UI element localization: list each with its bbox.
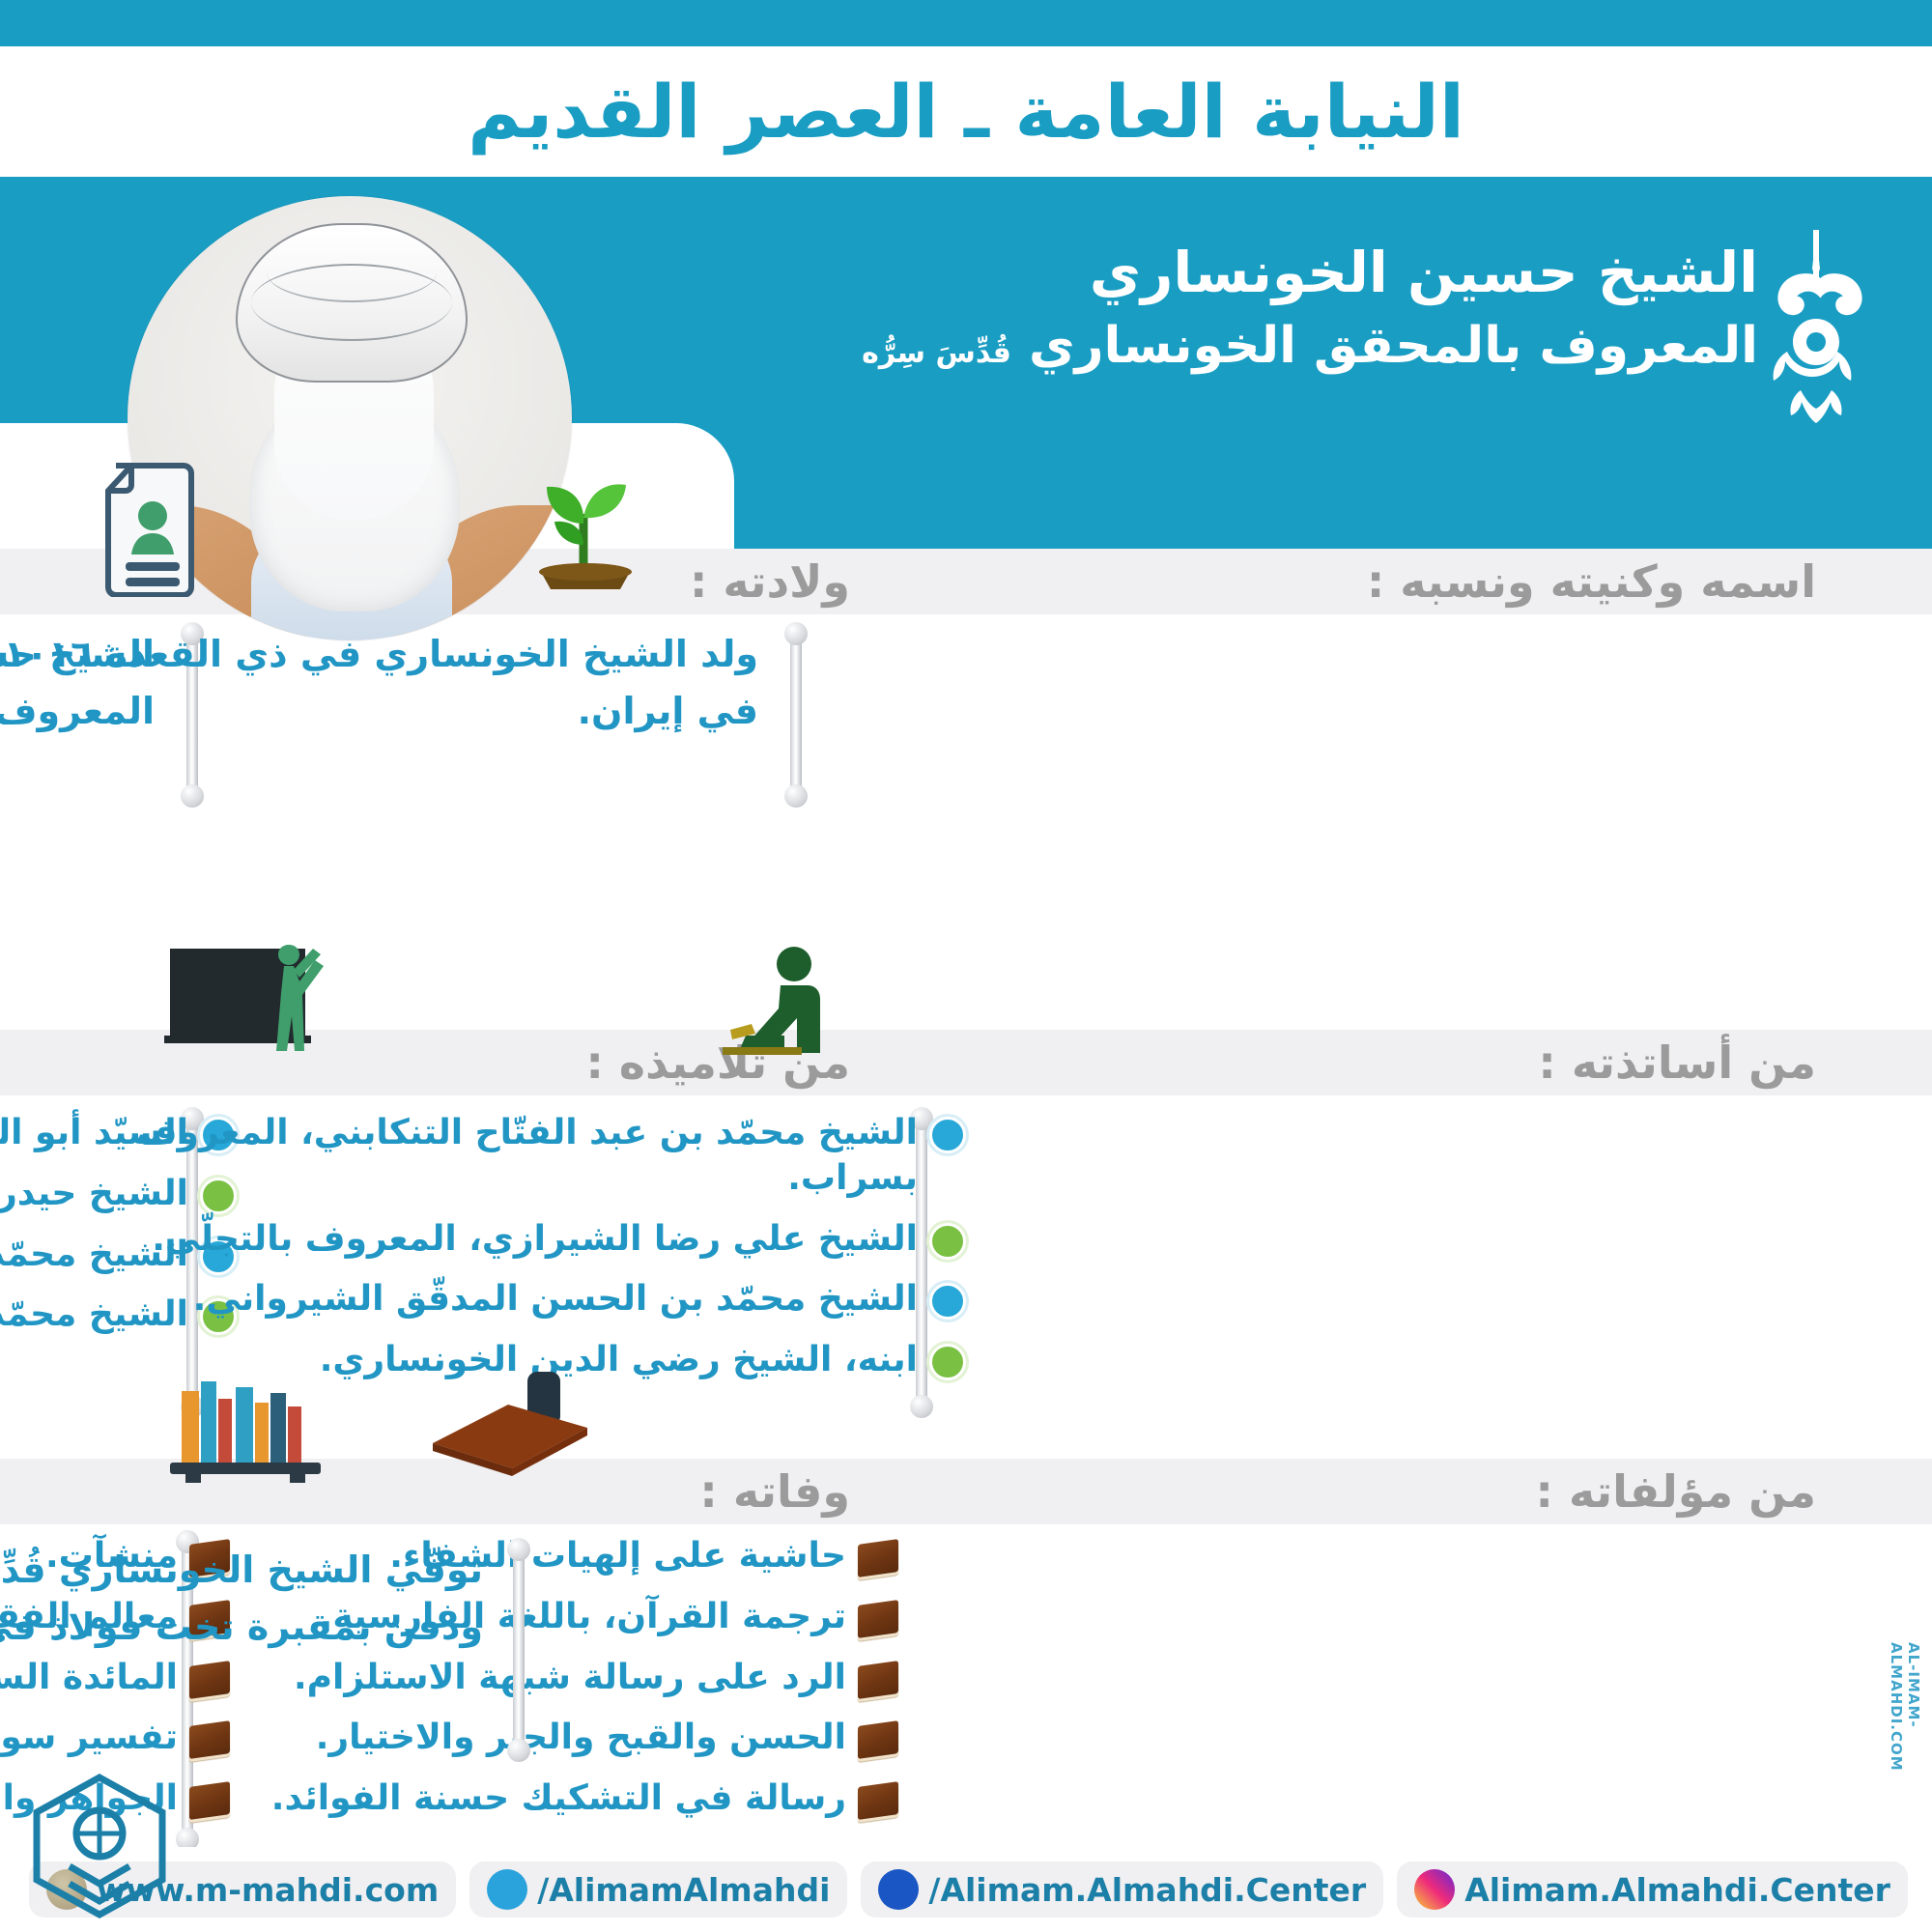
portrait-turban bbox=[236, 223, 468, 383]
footer-link-facebook-label: /Alimam.Almahdi.Center bbox=[928, 1871, 1366, 1909]
book-icon bbox=[858, 1723, 898, 1756]
body-birth: ولد الشيخ الخونساري في ذي القعدة ١٠١٦هـ … bbox=[0, 626, 758, 740]
page-title: النيابة العامة ـ العصر القديم bbox=[468, 75, 1464, 149]
bullet-icon bbox=[929, 1223, 966, 1260]
rail-birth bbox=[790, 638, 802, 792]
death-line2: ودفن بمقبرة تخت فولاذ في إصفهان. bbox=[0, 1599, 483, 1656]
facebook-icon bbox=[878, 1869, 919, 1910]
list-item: الحسن والقبح والجبر والاختيار. bbox=[203, 1716, 898, 1761]
id-card-icon bbox=[99, 462, 203, 601]
bullet-icon bbox=[929, 1344, 966, 1380]
heading-works: من مؤلفاته : bbox=[1536, 1459, 1816, 1524]
title-zone: النيابة العامة ـ العصر القديم bbox=[0, 46, 1932, 177]
seedling-icon bbox=[512, 464, 657, 593]
teacher-blackboard-icon bbox=[164, 945, 338, 1065]
death-line1: توفّي الشيخ الخونساري قُدِّسَ سِرُّه عام… bbox=[0, 1542, 483, 1599]
infographic-page: النيابة العامة ـ العصر القديم الشيخ حسين… bbox=[0, 0, 1932, 1932]
footer-link-instagram-label: Alimam.Almahdi.Center bbox=[1464, 1871, 1890, 1909]
footer-link-telegram[interactable]: /AlimamAlmahdi bbox=[469, 1861, 847, 1918]
organization-logo-icon bbox=[27, 1774, 172, 1918]
book-icon bbox=[858, 1663, 898, 1696]
honorific-label: قُدِّسَ سِرُّه bbox=[862, 336, 1011, 370]
telegram-icon bbox=[487, 1869, 527, 1910]
heading-teachers: من أساتذته : bbox=[1538, 1030, 1816, 1095]
top-accent-bar bbox=[0, 0, 1932, 46]
person-name-line2: المعروف بالمحقق الخونساري bbox=[1029, 317, 1758, 375]
side-watermark: AL-IMAM-ALMAHDI.COM bbox=[1899, 1642, 1922, 1816]
list-item: المائدة السليمانية. bbox=[0, 1656, 230, 1701]
list-students: الشيخ محمّد بن عبد الفتّاح التنكابني، ال… bbox=[0, 1111, 966, 1399]
person-name-line2-wrap: المعروف بالمحقق الخونساري قُدِّسَ سِرُّه bbox=[599, 310, 1758, 383]
person-name-block: الشيخ حسين الخونساري المعروف بالمحقق الخ… bbox=[599, 235, 1758, 384]
list-item: رسالة في التشكيك حسنة الفوائد. bbox=[203, 1776, 898, 1822]
list-item: تفسير سورة الفاتحة. bbox=[0, 1716, 230, 1761]
heading-death: وفاته : bbox=[699, 1459, 850, 1524]
hero-band: الشيخ حسين الخونساري المعروف بالمحقق الخ… bbox=[0, 177, 1932, 549]
person-name-line1: الشيخ حسين الخونساري bbox=[599, 235, 1758, 310]
footer-link-telegram-label: /AlimamAlmahdi bbox=[537, 1871, 830, 1909]
book-icon bbox=[858, 1784, 898, 1817]
heading-name-lineage: اسمه وكنيته ونسبه : bbox=[1367, 549, 1816, 614]
book-icon bbox=[858, 1542, 898, 1575]
social-links: www.m-mahdi.com /AlimamAlmahdi /Alimam.A… bbox=[29, 1861, 1908, 1918]
footer-link-instagram[interactable]: Alimam.Almahdi.Center bbox=[1397, 1861, 1908, 1918]
list-item: الشيخ محمّد بن الحسن المدقّق الشيرواني. bbox=[0, 1277, 966, 1322]
bookshelf-icon bbox=[164, 1370, 328, 1488]
footer-bar: www.m-mahdi.com /AlimamAlmahdi /Alimam.A… bbox=[0, 1847, 1932, 1932]
book-icon bbox=[858, 1603, 898, 1635]
bullet-icon bbox=[929, 1117, 966, 1153]
floral-ornament-icon bbox=[1758, 230, 1874, 452]
instagram-icon bbox=[1414, 1869, 1455, 1910]
body-death: توفّي الشيخ الخونساري قُدِّسَ سِرُّه عام… bbox=[0, 1542, 483, 1656]
seated-student-icon bbox=[696, 947, 850, 1062]
footer-link-facebook[interactable]: /Alimam.Almahdi.Center bbox=[861, 1861, 1383, 1918]
bullet-icon bbox=[929, 1283, 966, 1320]
list-item: الرد على رسالة شبهة الاستلزام. bbox=[203, 1656, 898, 1701]
list-item: الشيخ علي رضا الشيرازي، المعروف بالتجلّي… bbox=[0, 1217, 966, 1263]
heading-birth: ولادته : bbox=[690, 549, 850, 614]
rail-death bbox=[513, 1553, 525, 1747]
list-item: الشيخ محمّد بن عبد الفتّاح التنكابني، ال… bbox=[0, 1111, 966, 1202]
grave-icon bbox=[415, 1372, 599, 1482]
